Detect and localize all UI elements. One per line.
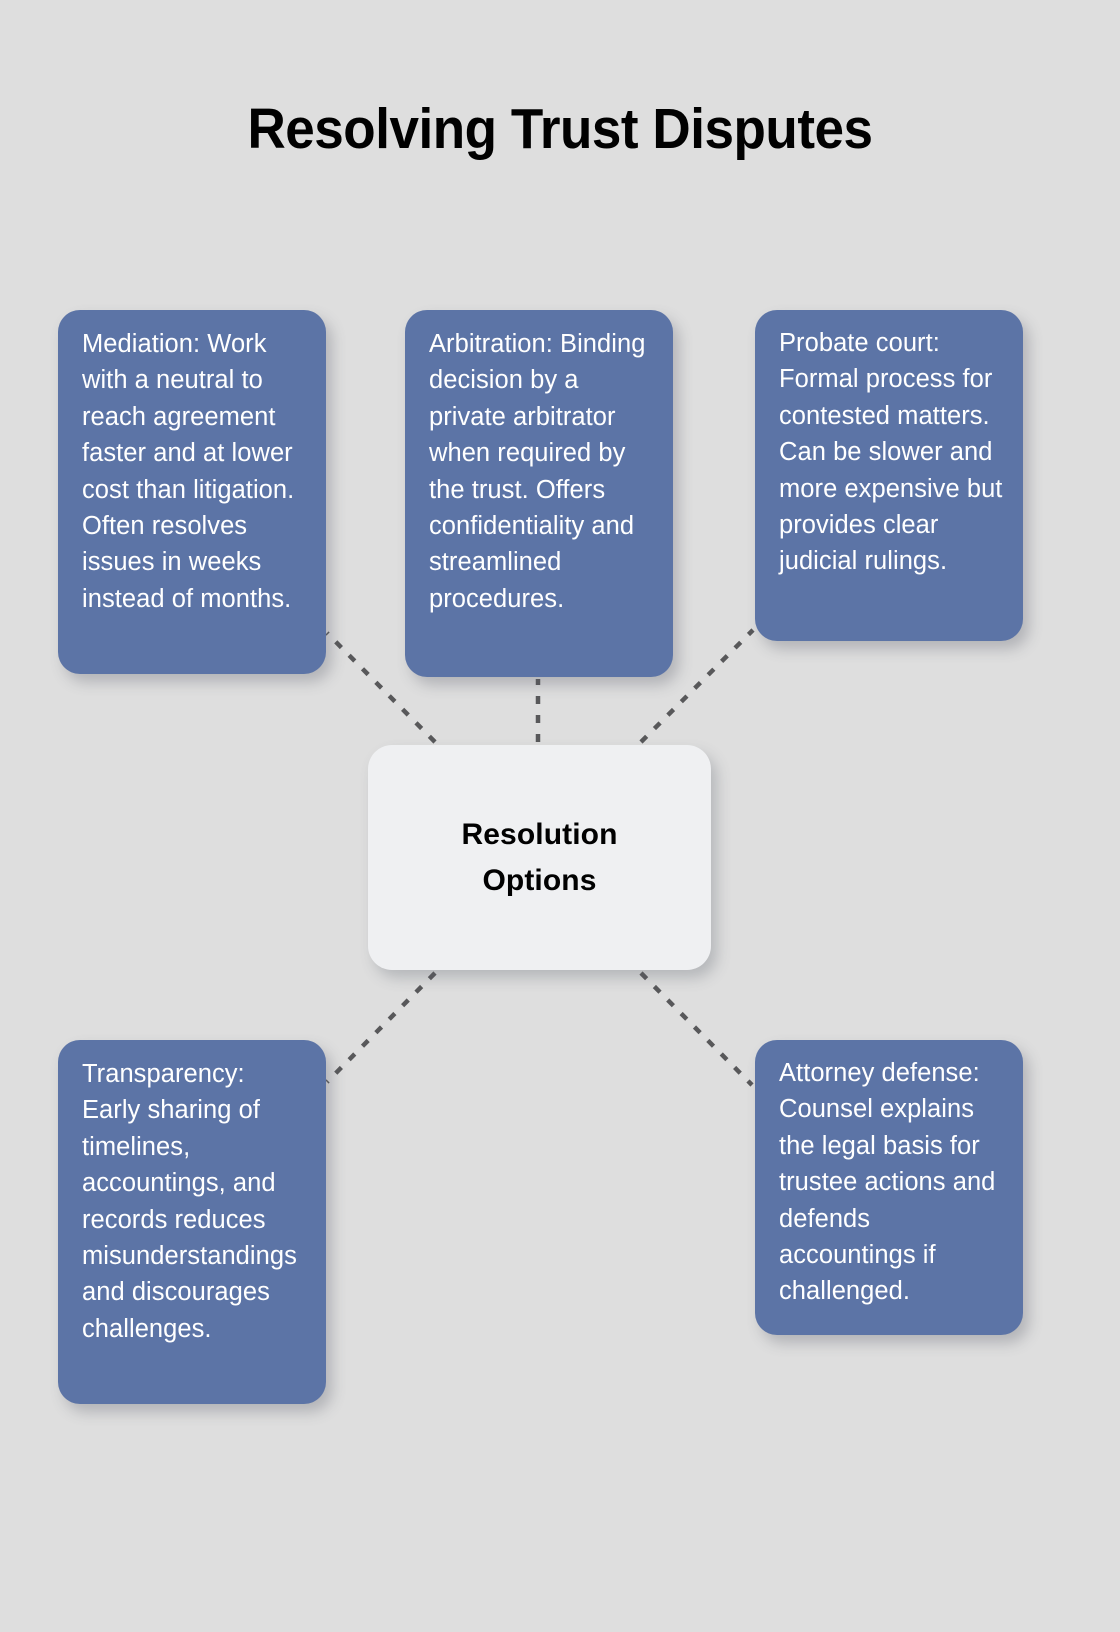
connector-center-to-transparency [327,973,435,1082]
branch-card-transparency[interactable]: Transparency: Early sharing of timelines… [58,1040,326,1404]
page-title: Resolving Trust Disputes [39,98,1081,161]
branch-card-probate[interactable]: Probate court: Formal process for contes… [755,310,1023,641]
branch-card-arbitration[interactable]: Arbitration: Binding decision by a priva… [405,310,673,677]
branch-card-mediation-text: Mediation: Work with a neutral to reach … [58,310,326,633]
branch-card-attorney-defense[interactable]: Attorney defense: Counsel explains the l… [755,1040,1023,1335]
branch-card-arbitration-text: Arbitration: Binding decision by a priva… [405,310,673,633]
center-node[interactable]: Resolution Options [368,745,711,970]
connector-center-to-attorney [641,973,752,1085]
branch-card-mediation[interactable]: Mediation: Work with a neutral to reach … [58,310,326,674]
center-node-label-line2: Options [482,864,596,897]
infographic-canvas: Resolving Trust Disputes Mediation: Work… [0,0,1120,1632]
branch-card-probate-text: Probate court: Formal process for contes… [755,310,1023,596]
branch-card-transparency-text: Transparency: Early sharing of timelines… [58,1040,326,1363]
center-node-label-line1: Resolution [462,818,618,851]
branch-card-attorney-defense-text: Attorney defense: Counsel explains the l… [755,1040,1023,1326]
center-node-label: Resolution Options [462,812,618,904]
